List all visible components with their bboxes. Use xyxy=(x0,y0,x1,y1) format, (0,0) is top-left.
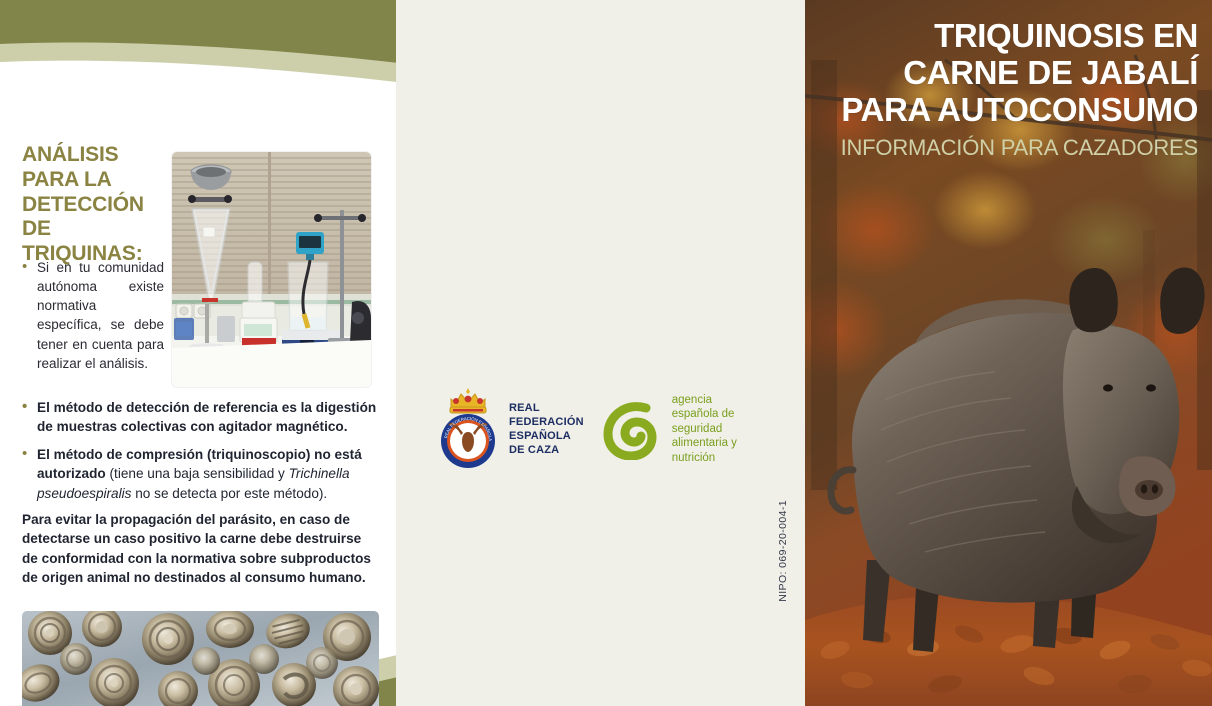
bullet-list-wide-2: El método de compresión (triquinoscopio)… xyxy=(22,445,380,503)
brochure-page: TRIQUINOSIS EN CARNE DE JABALÍ PARA AUTO… xyxy=(0,0,1212,706)
aesan-line-1: agencia xyxy=(672,393,737,407)
header-block: TRIQUINOSIS EN CARNE DE JABALÍ PARA AUTO… xyxy=(838,18,1198,161)
bullet-normativa: Si en tu comunidad autónoma existe norma… xyxy=(22,258,164,373)
logo-row: REAL FEDERACIÓN ESPAÑOLA DE CAZA REAL FE… xyxy=(437,383,777,475)
bullet-list-wide-1: El método de detección de referencia es … xyxy=(22,398,380,437)
nipo-code: NIPO: 069-20-004-1 xyxy=(777,500,789,602)
closing-paragraph: Para evitar la propagación del parásito,… xyxy=(22,510,380,587)
bullet-compresion-part3: no se detecta por este método). xyxy=(131,486,327,501)
logo-agencia-espanola-seguridad-alimentaria: agencia española de seguridad alimentari… xyxy=(602,393,737,465)
aesan-line-3: seguridad xyxy=(672,422,737,436)
rfec-emblem-icon: REAL FEDERACIÓN ESPAÑOLA DE CAZA xyxy=(437,385,501,473)
bullet-compresion-part2: (tiene una baja sensibilidad y xyxy=(106,466,289,481)
title-line-3: PARA AUTOCONSUMO xyxy=(838,92,1198,129)
aesan-spiral-icon xyxy=(602,398,664,460)
bullet-digestion: El método de detección de referencia es … xyxy=(22,398,380,437)
page-subtitle: INFORMACIÓN PARA CAZADORES xyxy=(838,135,1198,161)
aesan-wordmark: agencia española de seguridad alimentari… xyxy=(672,393,737,465)
bullet-list-narrow: Si en tu comunidad autónoma existe norma… xyxy=(22,258,164,373)
page-title: TRIQUINOSIS EN CARNE DE JABALÍ PARA AUTO… xyxy=(838,18,1198,129)
aesan-line-5: nutrición xyxy=(672,451,737,465)
rfec-line-1: REAL xyxy=(509,401,584,415)
rfec-line-2: FEDERACIÓN xyxy=(509,415,584,429)
rfec-wordmark: REAL FEDERACIÓN ESPAÑOLA DE CAZA xyxy=(509,401,584,457)
rfec-line-3: ESPAÑOLA xyxy=(509,429,584,443)
larvae-photo xyxy=(22,611,379,706)
rfec-line-4: DE CAZA xyxy=(509,443,584,457)
lab-photo xyxy=(172,152,371,387)
aesan-line-2: española de xyxy=(672,407,737,421)
title-line-1: TRIQUINOSIS EN xyxy=(838,18,1198,55)
logo-real-federacion-espanola-de-caza: REAL FEDERACIÓN ESPAÑOLA DE CAZA REAL FE… xyxy=(437,385,584,473)
title-line-2: CARNE DE JABALÍ xyxy=(838,55,1198,92)
center-panel xyxy=(396,0,805,706)
left-column: ANÁLISIS PARA LA DETECCIÓN DE TRIQUINAS: xyxy=(0,0,396,706)
aesan-line-4: alimentaria y xyxy=(672,436,737,450)
section-title: ANÁLISIS PARA LA DETECCIÓN DE TRIQUINAS: xyxy=(22,143,162,267)
bullet-compresion: El método de compresión (triquinoscopio)… xyxy=(22,445,380,503)
